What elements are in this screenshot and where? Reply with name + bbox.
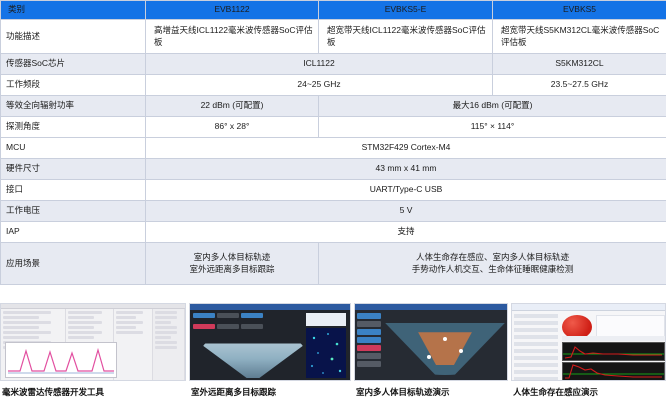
row-label-function: 功能描述 [1, 20, 146, 54]
table-row: IAP 支持 [1, 222, 666, 243]
scenario-evb1122-line2: 室外远距离多目标跟踪 [151, 264, 313, 275]
table-row: 功能描述 高增益天线ICL1122毫米波传感器SoC评估板 超宽带天线ICL11… [1, 20, 666, 54]
table-row: 探测角度 86° x 28° 115° × 114° [1, 117, 666, 138]
table-header: 类别 EVB1122 EVBKS5-E EVBKS5 [1, 1, 666, 20]
table-row: 等效全向辐射功率 22 dBm (可配置) 最大16 dBm (可配置) [1, 96, 666, 117]
row-label-iap: IAP [1, 222, 146, 243]
cell-eirp-22dbm: 22 dBm (可配置) [146, 96, 319, 117]
caption-outdoor-tracking: 室外远距离多目标跟踪 [189, 381, 351, 398]
screenshot-indoor-track [354, 303, 508, 381]
motion-chart [562, 342, 665, 361]
caption-indoor-track: 室内多人体目标轨迹演示 [354, 381, 508, 398]
screenshot-gallery: 毫米波雷达传感器开发工具 [0, 303, 666, 413]
table-row: 工作频段 24~25 GHz 23.5~27.5 GHz [1, 75, 666, 96]
cell-angle-115x114: 115° × 114° [319, 117, 666, 138]
gallery-item-indoor-track: 室内多人体目标轨迹演示 [354, 303, 508, 413]
gallery-item-presence-sensing: 人体生命存在感应演示 [511, 303, 666, 413]
column-header-category: 类别 [1, 1, 146, 20]
column-header-evbks5: EVBKS5 [493, 1, 666, 20]
cell-function-evbks5: 超宽带天线S5KM312CL毫米波传感器SoC评估板 [493, 20, 666, 54]
cell-frequency-24-25: 24~25 GHz [146, 75, 493, 96]
spec-comparison-page: 类别 EVB1122 EVBKS5-E EVBKS5 功能描述 高增益天线ICL… [0, 0, 666, 413]
cell-function-evbks5e: 超宽带天线ICL1122毫米波传感器SoC评估板 [319, 20, 493, 54]
row-label-detection-angle: 探测角度 [1, 117, 146, 138]
screenshot-dev-tool [0, 303, 186, 381]
cell-iap-value: 支持 [146, 222, 666, 243]
target-dot [427, 355, 431, 359]
heatmap-display [306, 328, 346, 378]
cell-hardware-size-value: 43 mm x 41 mm [146, 159, 666, 180]
motion-chart-svg [563, 343, 664, 360]
target-table [306, 313, 346, 326]
cell-angle-86x28: 86° x 28° [146, 117, 319, 138]
tool-column-log [153, 309, 185, 381]
row-label-frequency: 工作频段 [1, 75, 146, 96]
scenario-evbks5-line2: 手势动作人机交互、生命体征睡眠健康检测 [324, 264, 661, 275]
tool-column-status [114, 309, 154, 381]
caption-presence-sensing: 人体生命存在感应演示 [511, 381, 666, 398]
window-titlebar [355, 304, 507, 310]
header-row: 类别 EVB1122 EVBKS5-E EVBKS5 [1, 1, 666, 20]
target-dot [459, 349, 463, 353]
cell-mcu-value: STM32F429 Cortex-M4 [146, 138, 666, 159]
screenshot-presence-sensing [511, 303, 666, 381]
screenshot-outdoor-tracking [189, 303, 351, 381]
chart-legend [562, 336, 665, 341]
row-label-soc-chip: 传感器SoC芯片 [1, 54, 146, 75]
cell-scenario-evb1122: 室内多人体目标轨迹 室外远距离多目标跟踪 [146, 243, 319, 285]
waveform-plot [5, 342, 117, 378]
scenario-evb1122-line1: 室内多人体目标轨迹 [151, 252, 313, 263]
waveform-svg [6, 343, 116, 377]
track-scene [383, 323, 507, 378]
static-chart-svg [563, 363, 664, 380]
cell-eirp-16dbm: 最大16 dBm (可配置) [319, 96, 666, 117]
row-label-voltage: 工作电压 [1, 201, 146, 222]
sidebar-controls [514, 314, 558, 381]
caption-dev-tool: 毫米波雷达传感器开发工具 [0, 381, 186, 398]
table-row: 接口 UART/Type-C USB [1, 180, 666, 201]
target-dot [443, 337, 447, 341]
cell-function-evb1122: 高增益天线ICL1122毫米波传感器SoC评估板 [146, 20, 319, 54]
cell-voltage-value: 5 V [146, 201, 666, 222]
table-row: MCU STM32F429 Cortex-M4 [1, 138, 666, 159]
table-body: 功能描述 高增益天线ICL1122毫米波传感器SoC评估板 超宽带天线ICL11… [1, 20, 666, 285]
product-comparison-table: 类别 EVB1122 EVBKS5-E EVBKS5 功能描述 高增益天线ICL… [0, 0, 666, 285]
gallery-item-outdoor-tracking: 室外远距离多目标跟踪 [189, 303, 351, 413]
table-row: 传感器SoC芯片 ICL1122 S5KM312CL [1, 54, 666, 75]
row-label-hardware-size: 硬件尺寸 [1, 159, 146, 180]
row-label-interface: 接口 [1, 180, 146, 201]
sidebar-buttons [357, 313, 381, 369]
cell-interface-value: UART/Type-C USB [146, 180, 666, 201]
row-label-mcu: MCU [1, 138, 146, 159]
column-header-evb1122: EVB1122 [146, 1, 319, 20]
radar-fan-display [200, 330, 306, 378]
gallery-item-dev-tool: 毫米波雷达传感器开发工具 [0, 303, 186, 413]
table-row: 硬件尺寸 43 mm x 41 mm [1, 159, 666, 180]
cell-scenario-evbks5: 人体生命存在感应、室内多人体目标轨迹 手势动作人机交互、生命体征睡眠健康检测 [319, 243, 666, 285]
table-row: 工作电压 5 V [1, 201, 666, 222]
row-label-scenario: 应用场景 [1, 243, 146, 285]
cell-frequency-23-27: 23.5~27.5 GHz [493, 75, 666, 96]
static-chart [562, 362, 665, 381]
scenario-evbks5-line1: 人体生命存在感应、室内多人体目标轨迹 [324, 252, 661, 263]
row-label-eirp: 等效全向辐射功率 [1, 96, 146, 117]
column-header-evbks5e: EVBKS5-E [319, 1, 493, 20]
cell-soc-chip-s5km312cl: S5KM312CL [493, 54, 666, 75]
window-titlebar [512, 304, 665, 311]
cell-soc-chip-icl1122: ICL1122 [146, 54, 493, 75]
heatmap-svg [306, 328, 346, 378]
table-row-scenario: 应用场景 室内多人体目标轨迹 室外远距离多目标跟踪 人体生命存在感应、室内多人体… [1, 243, 666, 285]
